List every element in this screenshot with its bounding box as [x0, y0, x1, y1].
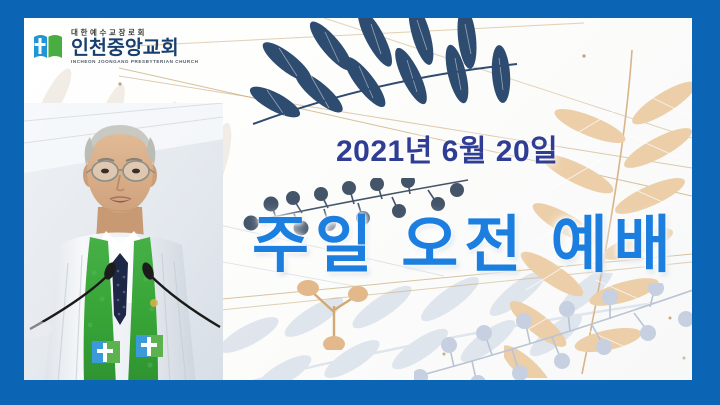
faint-olive-watermark-bottom: [194, 273, 664, 380]
gray-berry-branch-bottom: [414, 283, 692, 380]
title-card-stage: 대한예수교장로회 인천중앙교회 INCHEON JOONGANG PRESBYT…: [0, 0, 720, 405]
pastor-video-feed: [24, 103, 223, 380]
service-title: 주일 오전 예배: [252, 215, 677, 277]
logo-denomination-text: 대한예수교장로회: [71, 29, 199, 37]
logo-church-name-english: INCHEON JOONGANG PRESBYTERIAN CHURCH: [71, 60, 199, 65]
navy-olive-branch-top: [239, 18, 519, 132]
cross-icon: [92, 341, 120, 363]
tan-berry-sprig-bottom: [294, 280, 374, 350]
cross-icon: [136, 335, 163, 357]
content-panel: 대한예수교장로회 인천중앙교회 INCHEON JOONGANG PRESBYT…: [24, 18, 692, 380]
incheon-joongang-church-logo: 대한예수교장로회 인천중앙교회 INCHEON JOONGANG PRESBYT…: [32, 28, 199, 65]
open-book-cross-icon: [32, 31, 64, 62]
logo-church-name-korean: 인천중앙교회: [71, 39, 199, 59]
service-date: 2021년 6월 20일: [336, 126, 558, 170]
